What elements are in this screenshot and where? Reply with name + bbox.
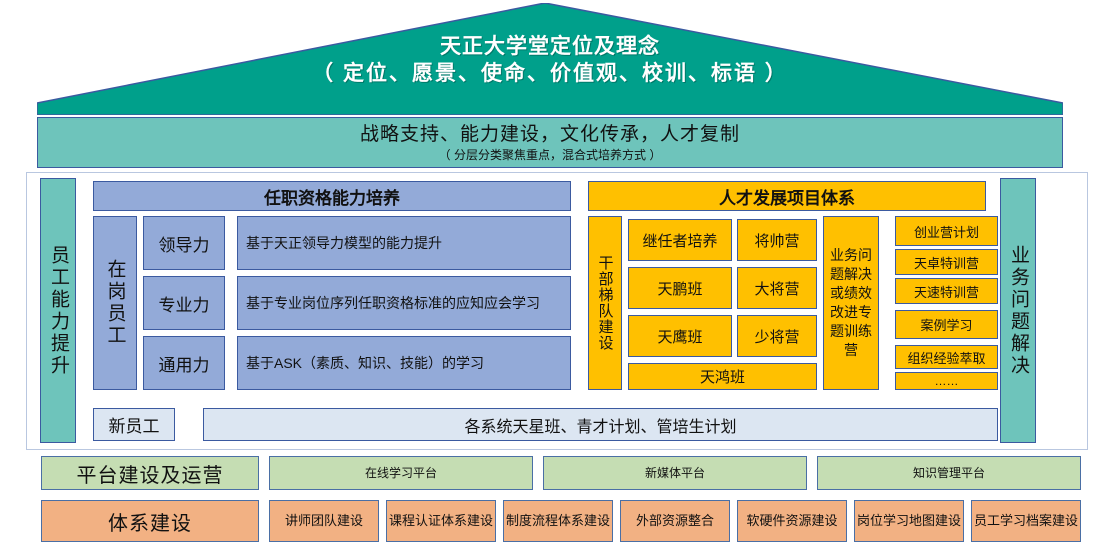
platform-item-new-media: 新媒体平台 bbox=[543, 456, 807, 490]
platform-item-online-learning: 在线学习平台 bbox=[269, 456, 533, 490]
system-item-trainer-team: 讲师团队建设 bbox=[269, 500, 379, 542]
talent-org-experience-extraction: 组织经验萃取 bbox=[895, 345, 998, 369]
capability-general-desc: 基于ASK（素质、知识、技能）的学习 bbox=[237, 336, 571, 390]
strategy-banner: 战略支持、能力建设，文化传承，人才复制 （ 分层分类聚焦重点，混合式培养方式 ） bbox=[37, 117, 1063, 168]
strategy-banner-main: 战略支持、能力建设，文化传承，人才复制 bbox=[360, 123, 740, 147]
diagram-canvas: 天正大学堂定位及理念 （ 定位、愿景、使命、价值观、校训、标语 ） 战略支持、能… bbox=[0, 0, 1114, 551]
talent-case-study: 案例学习 bbox=[895, 310, 998, 339]
system-item-hardware-software: 软硬件资源建设 bbox=[737, 500, 847, 542]
talent-general-marshal-camp: 将帅营 bbox=[737, 219, 817, 261]
system-item-employee-learning-file: 员工学习档案建设 bbox=[971, 500, 1081, 542]
pillar-left-employee-capability: 员工能力提升 bbox=[40, 178, 76, 443]
talent-tianpeng-class: 天鹏班 bbox=[628, 267, 732, 309]
system-item-external-resources: 外部资源整合 bbox=[620, 500, 730, 542]
talent-problem-solving-camp: 业务问题解决或绩效改进专题训练营 bbox=[823, 216, 879, 390]
capability-leadership-desc: 基于天正领导力模型的能力提升 bbox=[237, 216, 571, 270]
talent-tianzhuo-camp: 天卓特训营 bbox=[895, 249, 998, 275]
new-employee-programs: 各系统天星班、青才计划、管培生计划 bbox=[203, 408, 998, 441]
system-item-course-certification: 课程认证体系建设 bbox=[386, 500, 496, 542]
talent-tianying-class: 天鹰班 bbox=[628, 315, 732, 357]
talent-major-general-camp: 大将营 bbox=[737, 267, 817, 309]
section-header-talent: 人才发展项目体系 bbox=[588, 181, 986, 211]
group-label-on-job-employee: 在岗员工 bbox=[93, 216, 137, 390]
roof-shape: 天正大学堂定位及理念 （ 定位、愿景、使命、价值观、校训、标语 ） bbox=[37, 3, 1063, 115]
talent-more-ellipsis: …… bbox=[895, 372, 998, 390]
platform-item-knowledge-mgmt: 知识管理平台 bbox=[817, 456, 1081, 490]
new-employee-label: 新员工 bbox=[93, 408, 175, 441]
talent-tiansu-camp: 天速特训营 bbox=[895, 278, 998, 304]
talent-entrepreneurship-camp: 创业营计划 bbox=[895, 216, 998, 246]
platform-row-label: 平台建设及运营 bbox=[41, 456, 259, 490]
talent-minor-general-camp: 少将营 bbox=[737, 315, 817, 357]
system-item-policy-process: 制度流程体系建设 bbox=[503, 500, 613, 542]
talent-successor-development: 继任者培养 bbox=[628, 219, 732, 261]
talent-tianhong-class: 天鸿班 bbox=[628, 363, 817, 390]
talent-problem-solving-camp-text: 业务问题解决或绩效改进专题训练营 bbox=[826, 246, 876, 360]
pillar-right-business-problem: 业务问题解决 bbox=[1000, 178, 1036, 443]
capability-professional-desc: 基于专业岗位序列任职资格标准的应知应会学习 bbox=[237, 276, 571, 330]
section-header-qualification: 任职资格能力培养 bbox=[93, 181, 571, 211]
strategy-banner-sub: （ 分层分类聚焦重点，混合式培养方式 ） bbox=[439, 147, 662, 163]
cadre-echelon-label: 干部梯队建设 bbox=[588, 216, 622, 390]
system-item-job-learning-map: 岗位学习地图建设 bbox=[854, 500, 964, 542]
capability-general: 通用力 bbox=[143, 336, 225, 390]
capability-professional: 专业力 bbox=[143, 276, 225, 330]
capability-leadership: 领导力 bbox=[143, 216, 225, 270]
system-row-label: 体系建设 bbox=[41, 500, 259, 542]
